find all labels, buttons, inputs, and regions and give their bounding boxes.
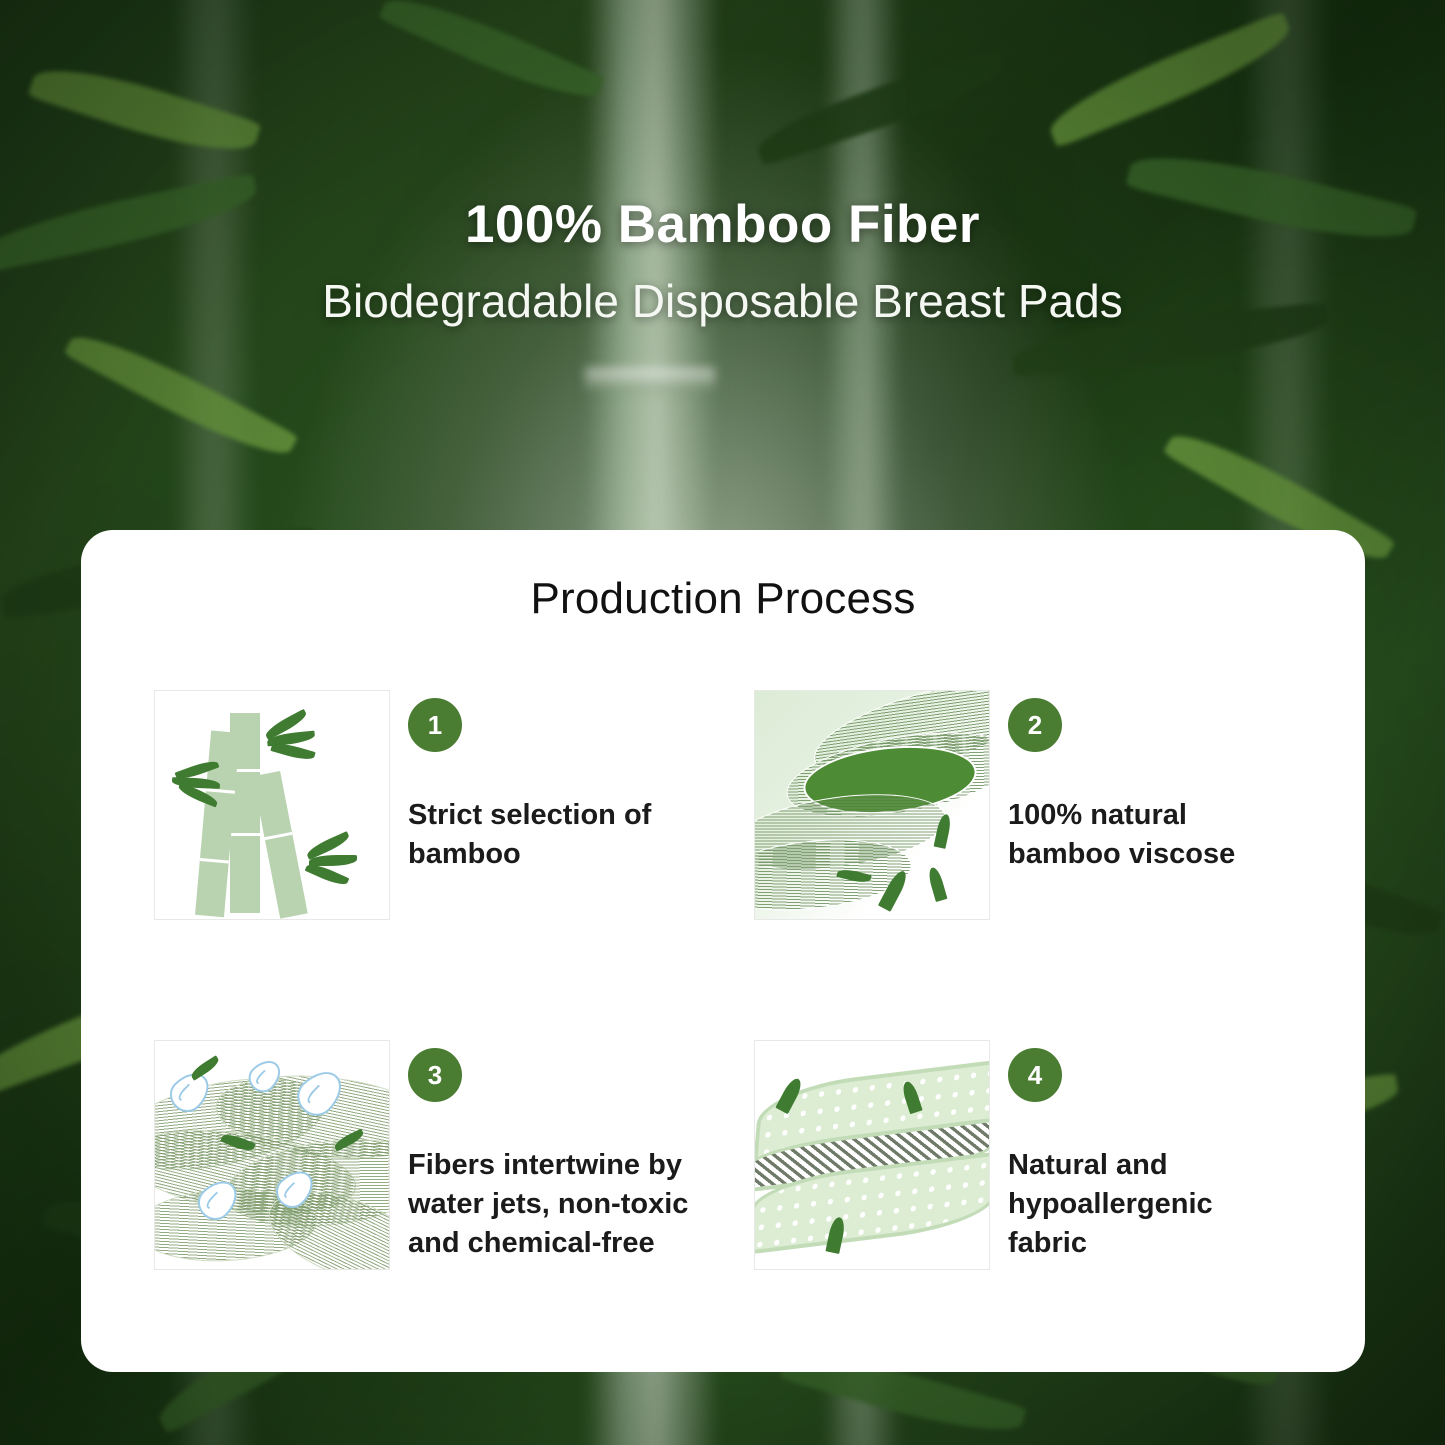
layered-fabric-icon <box>755 1041 989 1269</box>
step-number-badge: 3 <box>408 1048 462 1102</box>
process-step: 1 Strict selection of bamboo <box>154 690 754 920</box>
hero-title: 100% Bamboo Fiber <box>0 196 1445 254</box>
step-thumbnail <box>754 1040 990 1270</box>
poster: 100% Bamboo Fiber Biodegradable Disposab… <box>0 0 1445 1445</box>
steps-grid: 1 Strict selection of bamboo <box>154 690 1294 1270</box>
step-thumbnail <box>754 690 990 920</box>
process-step: 4 Natural and hypoallergenic fabric <box>754 1040 1294 1270</box>
step-number-badge: 2 <box>1008 698 1062 752</box>
card-title: Production Process <box>81 574 1365 624</box>
process-step: 3 Fibers intertwine by water jets, non-t… <box>154 1040 754 1270</box>
hero-headings: 100% Bamboo Fiber Biodegradable Disposab… <box>0 196 1445 327</box>
step-number-badge: 4 <box>1008 1048 1062 1102</box>
production-process-card: Production Process <box>81 530 1365 1372</box>
bamboo-viscose-ribbons-icon <box>755 691 989 919</box>
step-text: 1 Strict selection of bamboo <box>408 690 708 874</box>
hero-subtitle: Biodegradable Disposable Breast Pads <box>0 276 1445 327</box>
step-thumbnail <box>154 1040 390 1270</box>
step-caption: Strict selection of bamboo <box>408 796 708 874</box>
step-caption: 100% natural bamboo viscose <box>1008 796 1294 874</box>
step-text: 3 Fibers intertwine by water jets, non-t… <box>408 1040 708 1263</box>
bamboo-stalks-icon <box>155 691 389 919</box>
process-step: 2 100% natural bamboo viscose <box>754 690 1294 920</box>
step-number-badge: 1 <box>408 698 462 752</box>
step-text: 2 100% natural bamboo viscose <box>1008 690 1294 874</box>
step-caption: Fibers intertwine by water jets, non-tox… <box>408 1146 708 1263</box>
fibers-water-jets-icon <box>155 1041 389 1269</box>
step-caption: Natural and hypoallergenic fabric <box>1008 1146 1294 1263</box>
step-thumbnail <box>154 690 390 920</box>
step-text: 4 Natural and hypoallergenic fabric <box>1008 1040 1294 1263</box>
